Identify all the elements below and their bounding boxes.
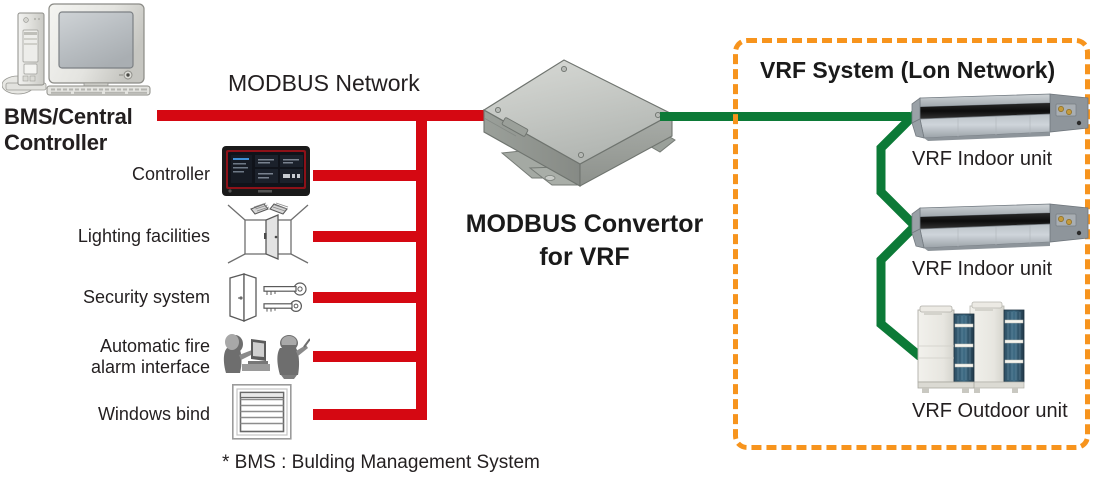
convertor-label-line-1: MODBUS Convertor [452,208,717,241]
vrf-indoor-unit-2-label: VRF Indoor unit [912,258,1052,282]
footnote-bms-definition: * BMS : Bulding Management System [222,452,540,474]
convertor-label-line-2: for VRF [452,241,717,274]
modbus-branch-security [313,292,423,303]
network-diagram: BMS/Central Controller MODBUS Network Co… [0,0,1104,478]
vrf-indoor-unit-icon [898,92,1094,142]
lighting-room-icon [226,201,310,265]
vrf-indoor-unit-1-label: VRF Indoor unit [912,148,1052,172]
fire-alarm-label-line-1: Automatic fire [10,336,210,357]
modbus-bus-vertical-trunk [416,110,427,420]
vrf-outdoor-unit-icon [912,296,1030,396]
bms-label-line-2: Controller [4,130,133,156]
desktop-computer-icon [2,2,160,98]
window-blind-icon [232,384,292,440]
modbus-convertor-box-icon [472,28,682,208]
modbus-network-label: MODBUS Network [228,70,420,97]
device-label-fire-alarm: Automatic fire alarm interface [10,336,210,377]
vrf-outdoor-unit-label: VRF Outdoor unit [912,400,1068,424]
modbus-branch-controller [313,170,423,181]
device-label-window-blind: Windows bind [20,404,210,425]
modbus-convertor-label: MODBUS Convertor for VRF [452,208,717,273]
fire-alarm-label-line-2: alarm interface [10,357,210,378]
modbus-branch-window-blind [313,409,423,420]
vrf-system-label: VRF System (Lon Network) [760,57,1055,84]
device-label-lighting: Lighting facilities [20,226,210,247]
tablet-controller-icon [222,146,310,196]
modbus-bus-main-line [157,110,517,121]
bms-central-controller-label: BMS/Central Controller [4,104,133,156]
bms-label-line-1: BMS/Central [4,104,133,130]
device-label-controller: Controller [30,164,210,185]
device-label-security: Security system [20,287,210,308]
door-key-icon [226,272,310,324]
modbus-branch-lighting [313,231,423,242]
fire-alarm-people-icon [218,331,310,379]
modbus-branch-fire-alarm [313,351,423,362]
vrf-indoor-unit-icon [898,202,1094,252]
